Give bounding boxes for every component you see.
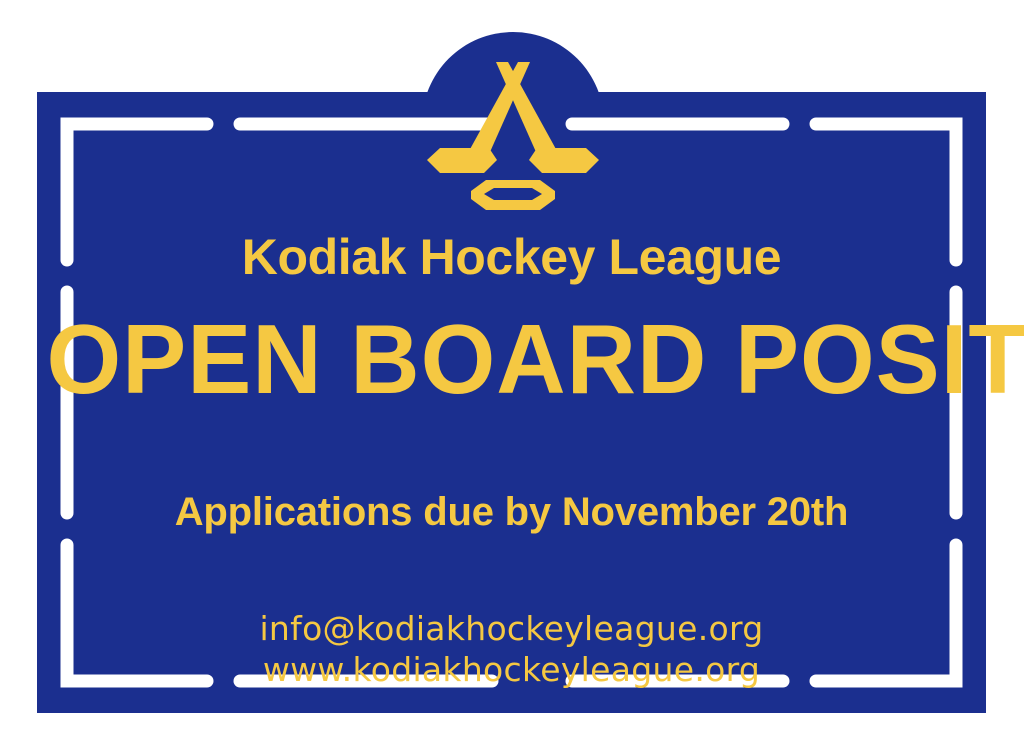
headline: OPEN BOARD POSITION	[46, 310, 976, 408]
contact-website[interactable]: www.kodiakhockeyleague.org	[37, 649, 986, 690]
deadline-text: Applications due by November 20th	[37, 492, 986, 532]
contact-email[interactable]: info@kodiakhockeyleague.org	[37, 608, 986, 649]
contact-block: info@kodiakhockeyleague.org www.kodiakho…	[37, 608, 986, 691]
poster-canvas: Kodiak Hockey League OPEN BOARD POSITION…	[0, 0, 1024, 749]
sign-content: Kodiak Hockey League OPEN BOARD POSITION…	[37, 92, 986, 713]
league-name: Kodiak Hockey League	[37, 232, 986, 282]
